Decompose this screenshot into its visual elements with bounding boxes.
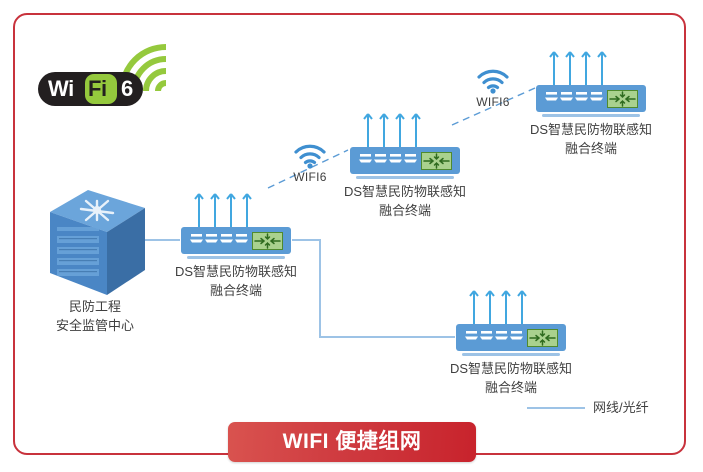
ap-label-line1: DS智慧民防物联感知 [496, 120, 686, 139]
converge-arrows-icon [527, 329, 558, 347]
server-label-line2: 安全监管中心 [20, 316, 170, 335]
antennas-icon [350, 110, 460, 150]
ports-icon [465, 329, 525, 346]
ap-label-line1: DS智慧民防物联感知 [141, 262, 331, 281]
antennas-icon [456, 287, 566, 327]
ap-label-line2: 融合终端 [496, 139, 686, 158]
ap-label-1: DS智慧民防物联感知 融合终端 [141, 262, 331, 300]
ap-base-shadow [542, 114, 640, 117]
wifi6-text-wi: Wi [48, 76, 74, 102]
bottom-banner: WIFI 便捷组网 [228, 422, 476, 462]
legend-label: 网线/光纤 [593, 398, 649, 418]
banner-text: WIFI 便捷组网 [228, 422, 476, 462]
wifi6-text-fi: Fi [88, 76, 107, 102]
antennas-icon [181, 190, 291, 230]
ap-body [536, 85, 646, 112]
server-label: 民防工程 安全监管中心 [20, 297, 170, 335]
ap-label-line1: DS智慧民防物联感知 [310, 182, 500, 201]
wifi-badge-2: WIFI6 [463, 68, 523, 109]
ap-base-shadow [462, 353, 560, 356]
wifi-badge-1: WIFI6 [280, 143, 340, 184]
ap-label-line2: 融合终端 [416, 378, 606, 397]
converge-arrows-icon [607, 90, 638, 108]
ap-base-shadow [356, 176, 454, 179]
wifi-icon [293, 143, 327, 169]
wifi-icon [476, 68, 510, 94]
diagram-canvas: Wi Fi 6 [0, 0, 703, 472]
ap-label-line1: DS智慧民防物联感知 [416, 359, 606, 378]
ap-base-shadow [187, 256, 285, 259]
legend: 网线/光纤 [527, 398, 677, 418]
ports-icon [359, 152, 419, 169]
ap-body [350, 147, 460, 174]
ports-icon [190, 232, 250, 249]
ap-label-line2: 融合终端 [141, 281, 331, 300]
legend-line-swatch [527, 407, 585, 409]
antennas-icon [536, 48, 646, 88]
ap-label-2: DS智慧民防物联感知 融合终端 [310, 182, 500, 220]
ap-body [456, 324, 566, 351]
server-icon [50, 190, 145, 295]
ports-icon [545, 90, 605, 107]
ap-label-line2: 融合终端 [310, 201, 500, 220]
ap-label-3: DS智慧民防物联感知 融合终端 [496, 120, 686, 158]
ap-body [181, 227, 291, 254]
wifi6-logo: Wi Fi 6 [38, 45, 173, 110]
server-cabinet [50, 190, 145, 295]
wifi-badge-label: WIFI6 [280, 170, 340, 184]
converge-arrows-icon [421, 152, 452, 170]
ap-label-4: DS智慧民防物联感知 融合终端 [416, 359, 606, 397]
wifi-badge-label: WIFI6 [463, 95, 523, 109]
converge-arrows-icon [252, 232, 283, 250]
wifi6-text-six: 6 [121, 76, 133, 102]
